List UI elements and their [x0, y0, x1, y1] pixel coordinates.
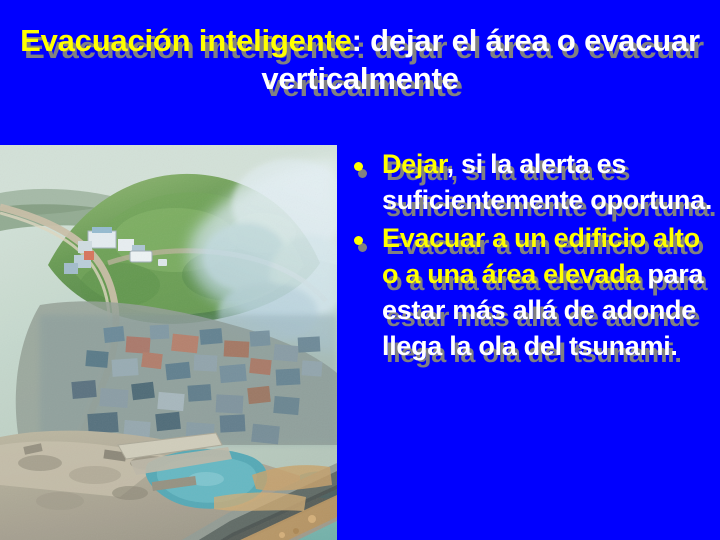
tsunami-damage-photo [0, 145, 337, 540]
list-item: Evacuar a un edificio alto o a una área … [352, 220, 714, 364]
bullet-dot-icon [354, 236, 363, 245]
title-highlight: Evacuación inteligente [20, 23, 352, 58]
bullet-text: Dejar, si la alerta es suficientemente o… [382, 146, 714, 218]
list-item: Dejar, si la alerta es suficientemente o… [352, 146, 714, 218]
page-title: Evacuación inteligente: dejar el área o … [14, 22, 706, 98]
presentation-slide: Evacuación inteligente: dejar el área o … [0, 0, 720, 540]
bullet-dot-icon [354, 162, 363, 171]
bullet-highlight: Dejar [382, 149, 447, 179]
bullet-text: Evacuar a un edificio alto o a una área … [382, 220, 714, 364]
bullet-list: Dejar, si la alerta es suficientemente o… [352, 146, 714, 366]
photo-illustration [0, 145, 337, 540]
